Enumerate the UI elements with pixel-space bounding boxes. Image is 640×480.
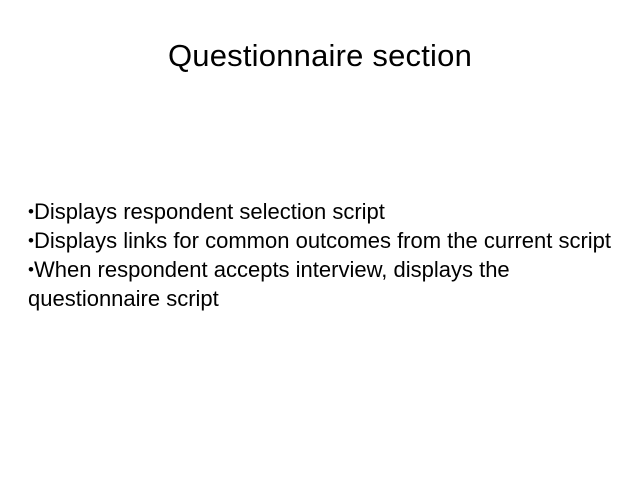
page-title: Questionnaire section: [0, 36, 640, 76]
list-item: •Displays respondent selection script: [28, 197, 612, 226]
list-item: •When respondent accepts interview, disp…: [28, 255, 612, 313]
bullet-list: •Displays respondent selection script •D…: [28, 197, 612, 313]
list-item-label: Displays respondent selection script: [34, 199, 385, 224]
list-item: •Displays links for common outcomes from…: [28, 226, 612, 255]
list-item-label: Displays links for common outcomes from …: [34, 228, 611, 253]
list-item-label: When respondent accepts interview, displ…: [28, 257, 510, 311]
slide-canvas: Questionnaire section •Displays responde…: [0, 0, 640, 480]
slide-body: •Displays respondent selection script •D…: [28, 197, 612, 313]
